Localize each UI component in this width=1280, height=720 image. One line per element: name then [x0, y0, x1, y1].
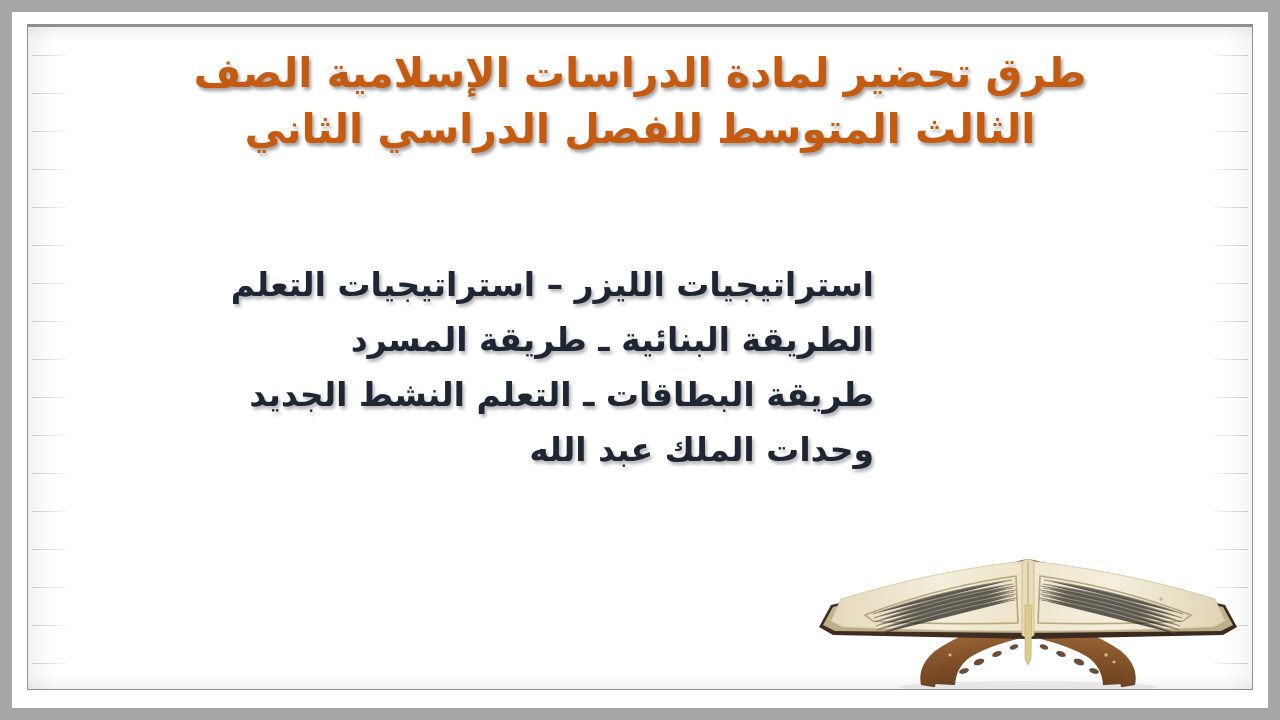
body-line-3: طريقة البطاقات ـ التعلم النشط الجديد [154, 367, 874, 422]
ruled-line [1210, 321, 1248, 322]
body-line-1: استراتيجيات الليزر – استراتيجيات التعلم [154, 257, 874, 312]
ruled-lines-left [28, 27, 74, 689]
ruled-line [32, 131, 70, 132]
title-line-2: الثالث المتوسط للفصل الدراسي الثاني [88, 101, 1192, 157]
slide-root: طرق تحضير لمادة الدراسات الإسلامية الصف … [0, 0, 1280, 720]
ruled-line [32, 663, 70, 664]
ruled-line [32, 587, 70, 588]
ruled-line [1210, 511, 1248, 512]
ruled-line [32, 435, 70, 436]
ruled-line [1210, 473, 1248, 474]
ruled-line [1210, 359, 1248, 360]
ruled-line [32, 511, 70, 512]
ruled-line [1210, 55, 1248, 56]
slide-page: طرق تحضير لمادة الدراسات الإسلامية الصف … [28, 27, 1252, 689]
ruled-line [1210, 131, 1248, 132]
ruled-line [1210, 169, 1248, 170]
ruled-line [32, 169, 70, 170]
ruled-line [32, 473, 70, 474]
ruled-line [32, 55, 70, 56]
body-line-2: الطريقة البنائية ـ طريقة المسرد [154, 312, 874, 367]
ruled-line [32, 625, 70, 626]
ruled-line [32, 321, 70, 322]
slide-title: طرق تحضير لمادة الدراسات الإسلامية الصف … [88, 45, 1192, 157]
ruled-line [1210, 93, 1248, 94]
ruled-line [32, 397, 70, 398]
page-edge-shade-top [28, 27, 1252, 43]
ruled-line [1210, 397, 1248, 398]
ruled-line [32, 93, 70, 94]
ruled-line [1210, 283, 1248, 284]
ruled-line [32, 207, 70, 208]
ruled-line [32, 549, 70, 550]
ruled-line [32, 245, 70, 246]
ruled-line [1210, 245, 1248, 246]
quran-ribbon-bookmark [1025, 605, 1032, 665]
ruled-line [1210, 207, 1248, 208]
title-line-1: طرق تحضير لمادة الدراسات الإسلامية الصف [88, 45, 1192, 101]
body-line-4: وحدات الملك عبد الله [154, 422, 874, 477]
slide-body: استراتيجيات الليزر – استراتيجيات التعلم … [154, 257, 874, 477]
ruled-line [32, 283, 70, 284]
ruled-line [32, 359, 70, 360]
page-edge-shade-left [28, 27, 54, 689]
ruled-line [1210, 435, 1248, 436]
quran-on-rehal-image [813, 535, 1243, 689]
